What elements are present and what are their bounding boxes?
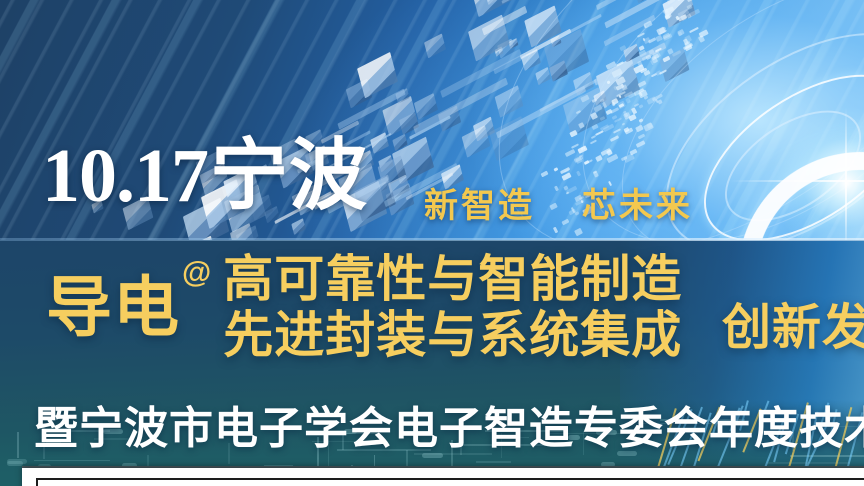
bottom-panel-inner-border	[36, 478, 864, 486]
title-lines: 高可靠性与智能制造 先进封装与系统集成	[223, 252, 682, 362]
main-title-block: 导电 @ 高可靠性与智能制造 先进封装与系统集成	[46, 252, 682, 362]
title-line-2: 先进封装与系统集成	[223, 308, 682, 362]
event-slogan: 新智造 芯未来	[424, 178, 693, 227]
title-line-1: 高可靠性与智能制造	[223, 252, 682, 306]
title-keyword-at-symbol: @	[182, 258, 211, 288]
slogan-part-1: 新智造	[424, 187, 535, 225]
event-date-row: 10.17 宁波	[42, 140, 368, 212]
title-keyword: 导电	[46, 274, 180, 340]
conference-banner: 10.17 宁波 新智造 芯未来 导电 @ 高可靠性与智能制造 先进封装与系统集…	[0, 0, 864, 486]
banner-content: 10.17 宁波 新智造 芯未来 导电 @ 高可靠性与智能制造 先进封装与系统集…	[0, 0, 864, 486]
event-city: 宁波	[210, 140, 368, 212]
event-date-number: 10.17	[42, 142, 208, 212]
bottom-white-panel	[22, 468, 864, 486]
side-gold-text: 创新发	[722, 288, 864, 359]
event-subtitle: 暨宁波市电子学会电子智造专委会年度技术本	[34, 392, 864, 456]
slogan-part-2: 芯未来	[582, 187, 693, 225]
